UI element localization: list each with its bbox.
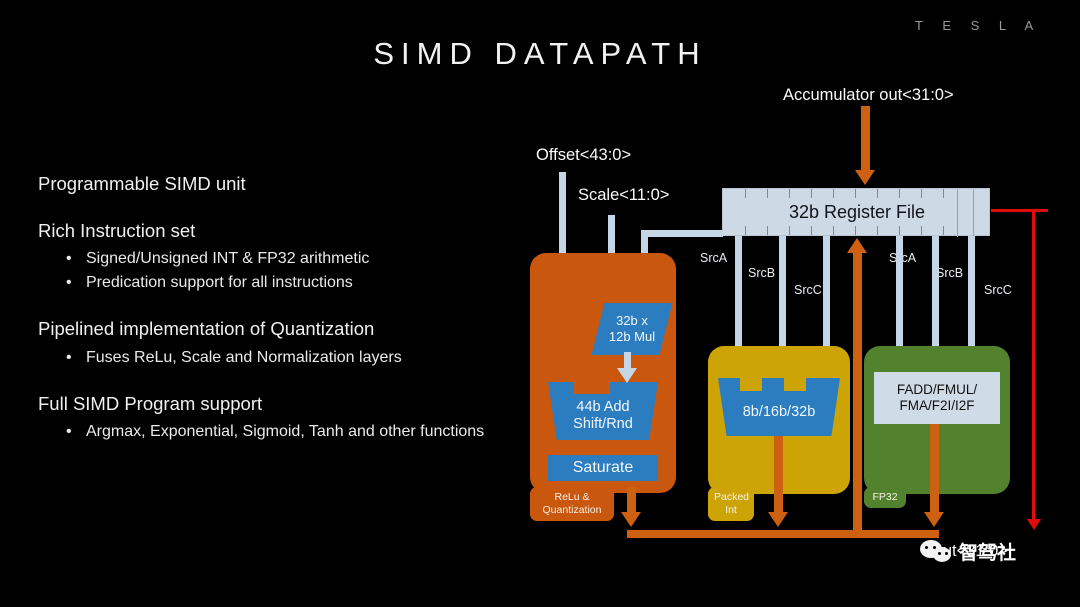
fp-srcA-line <box>896 236 903 364</box>
accumulator-out-arrowhead <box>855 170 875 185</box>
output-arrowhead <box>1027 519 1041 530</box>
fp-label-line2: FMA/F2I/I2F <box>899 398 974 414</box>
green-result-line <box>930 424 939 518</box>
tab-packed-line1: Packed <box>714 491 748 504</box>
tab-relu-quantization: ReLu & Quantization <box>530 487 614 521</box>
label-scale: Scale<11:0> <box>578 186 669 205</box>
tab-packed-line2: Int <box>714 504 748 517</box>
tab-packed-int: Packed Int <box>708 487 754 521</box>
slide-canvas: T E S L A SIMD DATAPATH Programmable SIM… <box>0 0 1080 607</box>
label-offset: Offset<43:0> <box>536 146 631 165</box>
mul-unit: 32b x 12b Mul <box>592 303 673 355</box>
output-line-horizontal <box>991 209 1048 212</box>
fp-srcC-line <box>968 236 975 364</box>
mul-to-add-arrowhead <box>617 368 637 383</box>
regfile-to-mul-horizontal <box>641 230 723 237</box>
label-int-srcB: SrcB <box>748 266 775 280</box>
orange-result-arrowhead <box>621 512 641 527</box>
register-file-ticks-top <box>723 189 991 198</box>
saturate-unit: Saturate <box>548 455 658 481</box>
tab-relu-line1: ReLu & <box>536 491 608 504</box>
watermark-text: 智驾社 <box>959 538 1016 565</box>
output-line-vertical <box>1032 209 1035 521</box>
wechat-icon <box>920 540 954 564</box>
label-accumulator-out: Accumulator out<31:0> <box>783 86 954 105</box>
gold-result-line <box>774 436 783 518</box>
fp-srcB-line <box>932 236 939 364</box>
mul-label-line1: 32b x <box>616 313 648 329</box>
label-int-srcC: SrcC <box>794 283 822 297</box>
label-fp-srcB: SrcB <box>936 266 963 280</box>
saturate-label: Saturate <box>573 458 633 477</box>
tab-fp32-label: FP32 <box>870 491 900 504</box>
label-fp-srcC: SrcC <box>984 283 1012 297</box>
packed-label: 8b/16b/32b <box>743 404 816 421</box>
writeback-arrowhead <box>847 238 867 253</box>
register-file-label: 32b Register File <box>723 202 991 223</box>
gold-result-arrowhead <box>768 512 788 527</box>
label-int-srcA: SrcA <box>700 251 727 265</box>
add-label-line1: 44b Add <box>576 399 629 416</box>
green-result-arrowhead <box>924 512 944 527</box>
simd-datapath-diagram: Accumulator out<31:0> Offset<43:0> Scale… <box>0 0 1080 607</box>
writeback-line <box>853 252 862 530</box>
tab-fp32: FP32 <box>864 487 906 508</box>
packed-alu-unit: 8b/16b/32b <box>718 378 840 436</box>
wechat-watermark: 智驾社 <box>920 538 1016 565</box>
tab-relu-line2: Quantization <box>536 504 608 517</box>
fp-label-line1: FADD/FMUL/ <box>897 382 977 398</box>
fp-alu-unit: FADD/FMUL/ FMA/F2I/I2F <box>874 372 1000 424</box>
register-file-ticks-bottom <box>723 226 991 235</box>
add-label-line2: Shift/Rnd <box>573 416 633 433</box>
mul-label-line2: 12b Mul <box>609 329 655 345</box>
accumulator-out-line <box>861 106 870 172</box>
result-bus-line <box>627 530 939 538</box>
register-file-block: 32b Register File <box>722 188 990 236</box>
